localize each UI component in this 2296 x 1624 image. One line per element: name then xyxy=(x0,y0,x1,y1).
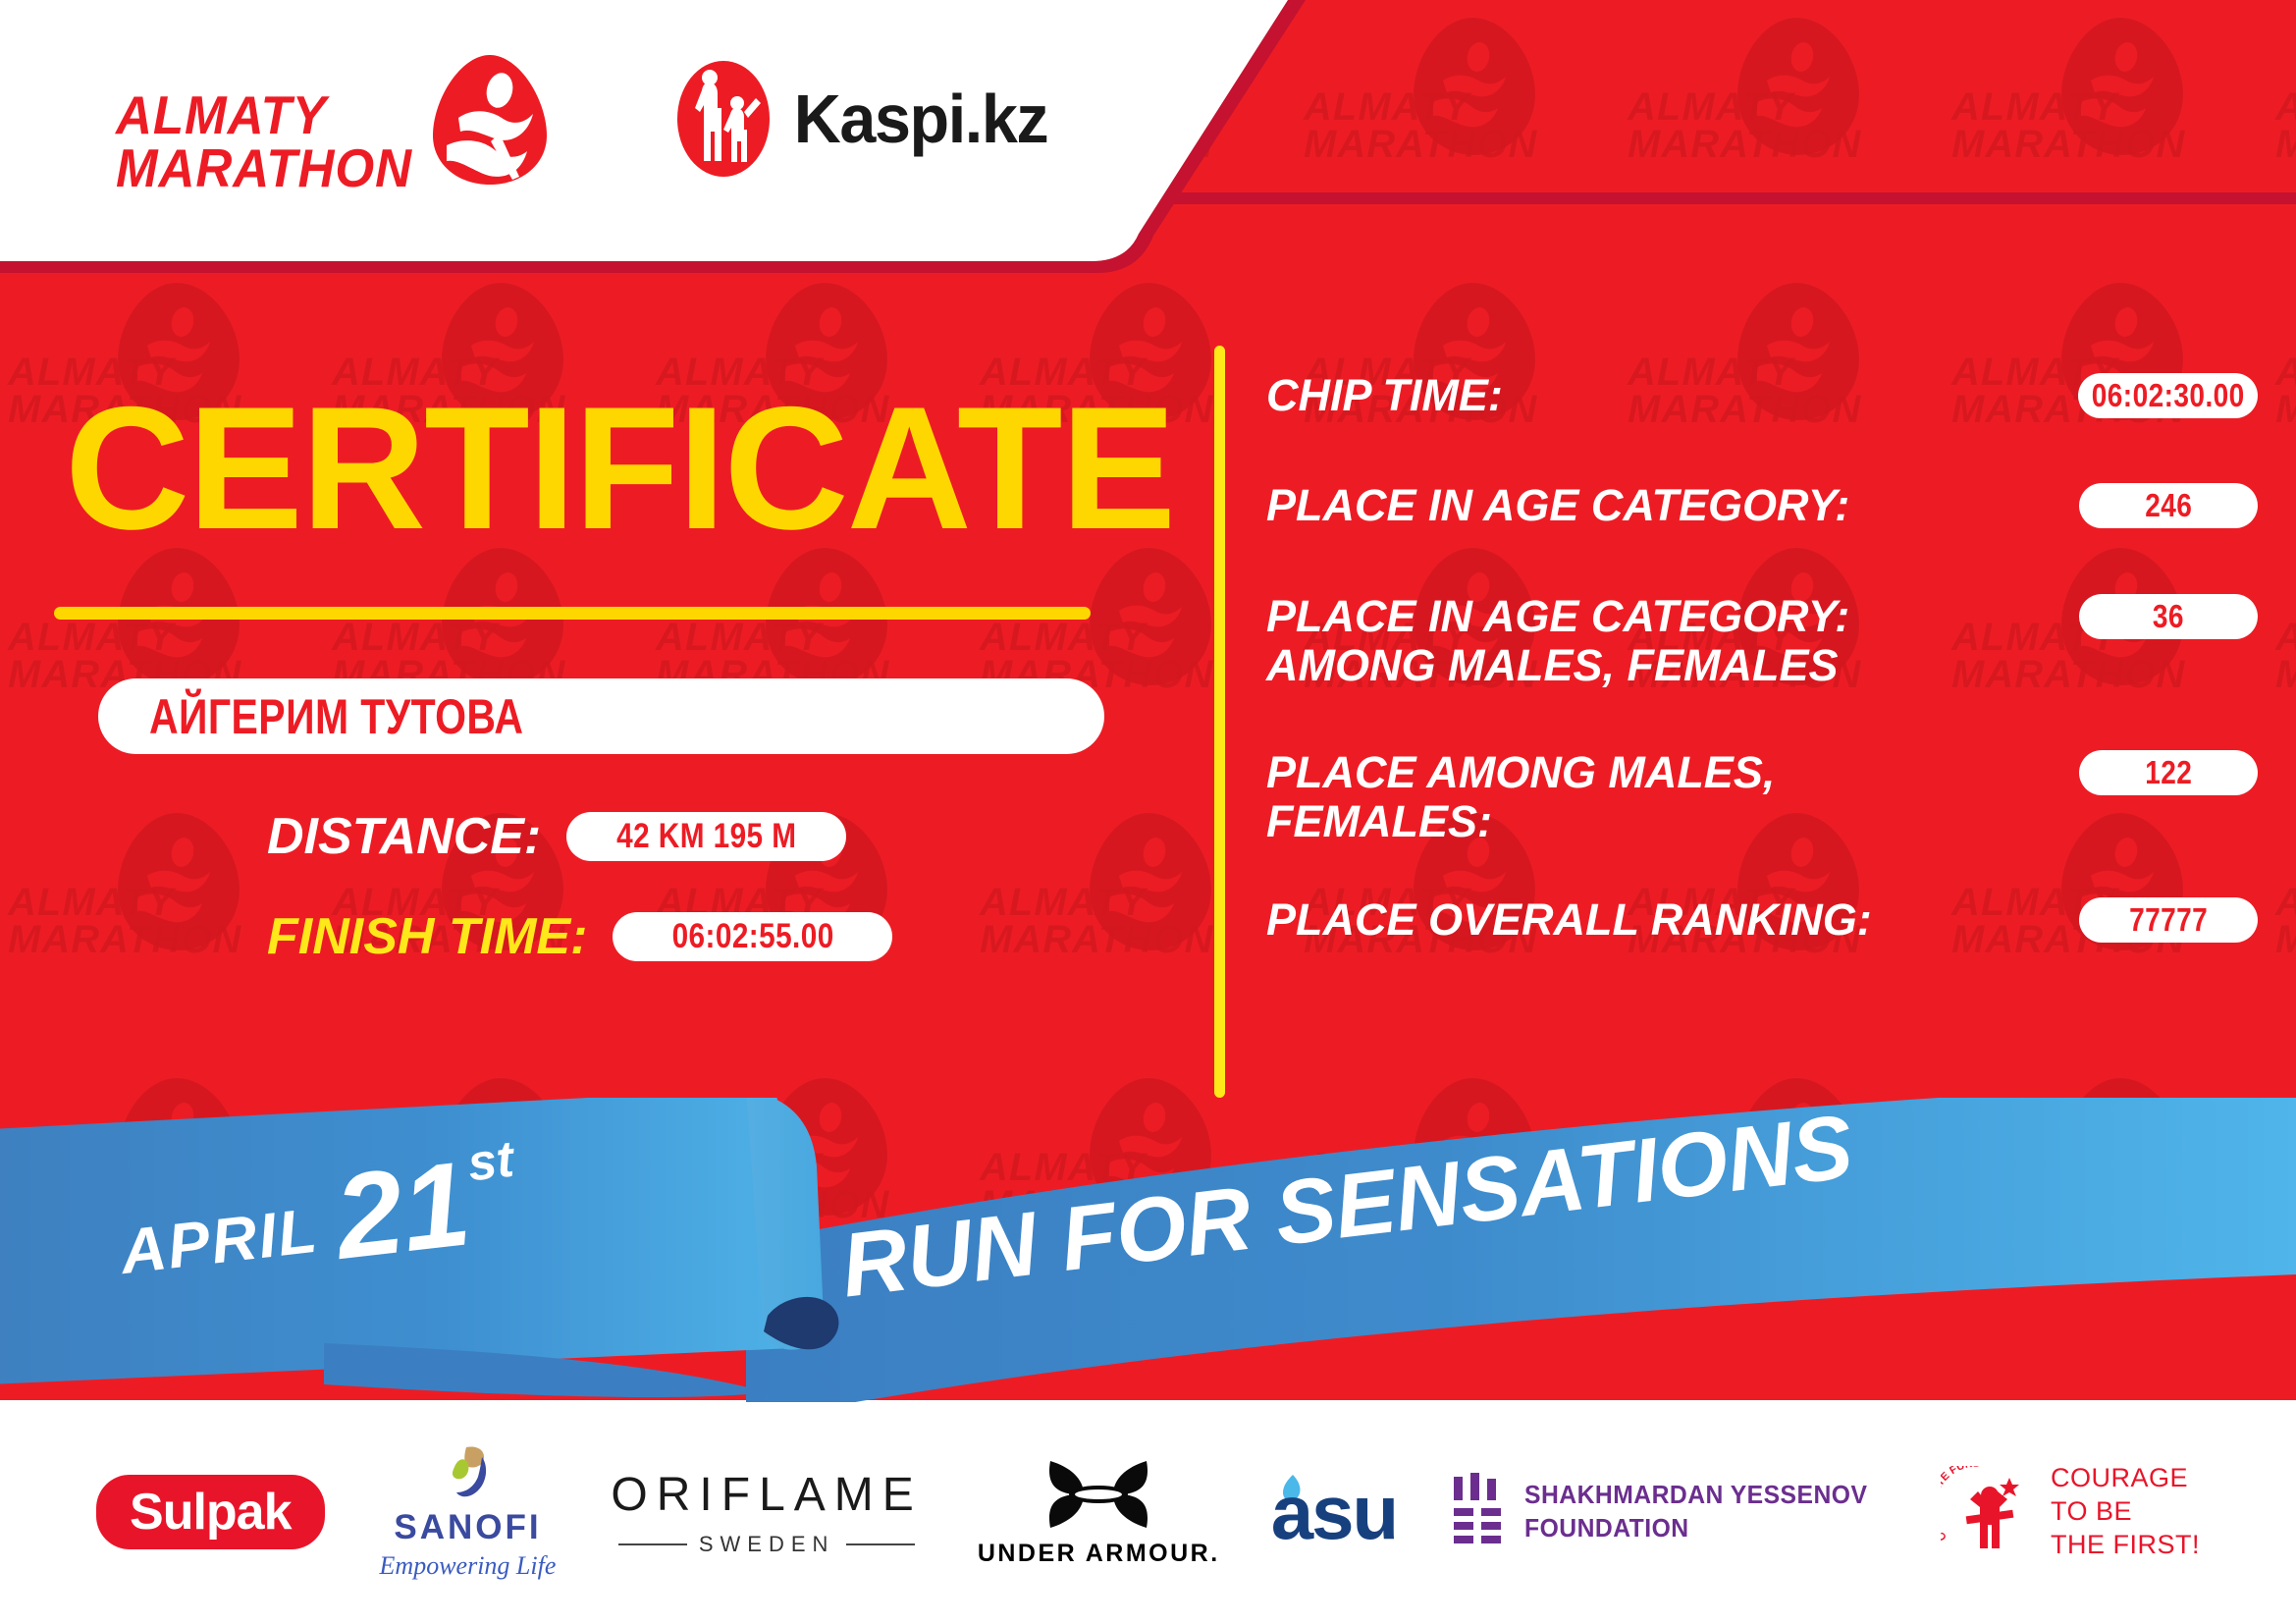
place-age-gender-label-line1: PLACE IN AGE CATEGORY: xyxy=(1266,592,2061,641)
courage-line3: THE FIRST! xyxy=(2051,1529,2200,1562)
under-armour-icon xyxy=(1041,1457,1156,1532)
event-day-ordinal: st xyxy=(465,1130,517,1194)
kaspi-logo: Kaspi.kz xyxy=(677,61,1054,177)
sponsor-under-armour: UNDER ARMOUR. xyxy=(978,1457,1220,1568)
chip-time-value: 06:02:30.00 xyxy=(2091,377,2244,414)
under-armour-wordmark: UNDER ARMOUR. xyxy=(978,1540,1220,1568)
column-divider xyxy=(1214,346,1225,1098)
sanofi-icon xyxy=(437,1443,498,1504)
wordmark-line1: ALMATY xyxy=(116,89,412,141)
place-age-pill: 246 xyxy=(2079,483,2258,528)
result-row-place-age-gender: PLACE IN AGE CATEGORY: AMONG MALES, FEMA… xyxy=(1266,592,2258,691)
runner-teardrop-icon xyxy=(429,51,552,189)
finish-time-pill: 06:02:55.00 xyxy=(613,912,892,961)
certificate-canvas: ALMATY MARATHON ALMATY MARATHON xyxy=(0,0,2296,1624)
sponsor-oriflame: ORIFLAME SWEDEN xyxy=(611,1468,922,1557)
sanofi-tagline: Empowering Life xyxy=(380,1551,557,1581)
event-month: APRIL xyxy=(117,1194,322,1288)
yessenov-line2: FOUNDATION xyxy=(1524,1512,1867,1545)
distance-pill: 42 KM 195 M xyxy=(566,812,846,861)
almaty-marathon-logo: ALMATY MARATHON xyxy=(116,51,552,196)
sanofi-wordmark: SANOFI xyxy=(394,1508,541,1547)
oriflame-sub-text: SWEDEN xyxy=(699,1532,835,1557)
wordmark-line2: MARATHON xyxy=(116,142,412,194)
overall-rank-pill: 77777 xyxy=(2079,897,2258,943)
courage-line2: TO BE xyxy=(2051,1495,2200,1529)
yessenov-icon xyxy=(1452,1473,1505,1551)
sponsor-yessenov: SHAKHMARDAN YESSENOV FOUNDATION xyxy=(1452,1473,1886,1551)
results-column: CHIP TIME: 06:02:30.00 PLACE IN AGE CATE… xyxy=(1266,371,2258,985)
event-day: 21 xyxy=(331,1153,475,1269)
result-row-overall: PLACE OVERALL RANKING: 77777 xyxy=(1266,895,2258,945)
place-age-label: PLACE IN AGE CATEGORY: xyxy=(1266,481,2079,530)
oriflame-wordmark: ORIFLAME xyxy=(611,1468,922,1522)
courage-wordmark: COURAGE TO BE THE FIRST! xyxy=(2051,1462,2200,1561)
place-gender-label: PLACE AMONG MALES, FEMALES: xyxy=(1266,748,2079,847)
oriflame-rule-left xyxy=(618,1543,687,1545)
place-gender-label-line2: FEMALES: xyxy=(1266,797,2061,846)
distance-value: 42 KM 195 M xyxy=(616,817,796,856)
overall-rank-label: PLACE OVERALL RANKING: xyxy=(1266,895,2079,945)
oriflame-sub: SWEDEN xyxy=(618,1532,916,1557)
place-age-gender-label-line2: AMONG MALES, FEMALES xyxy=(1266,641,2061,690)
finish-time-value: 06:02:55.00 xyxy=(671,917,833,956)
svg-text:CORPORATE FUND: CORPORATE FUND xyxy=(1941,1466,1981,1543)
courage-fund-icon: CORPORATE FUND xyxy=(1941,1466,2035,1558)
header-logos: ALMATY MARATHON Kaspi.kz xyxy=(0,0,1306,273)
kaspi-wordmark: Kaspi.kz xyxy=(794,80,1047,158)
overall-rank-value: 77777 xyxy=(2129,901,2208,939)
result-row-place-age: PLACE IN AGE CATEGORY: 246 xyxy=(1266,481,2258,530)
place-gender-label-line1: PLACE AMONG MALES, xyxy=(1266,748,2061,797)
sponsor-sanofi: SANOFI Empowering Life xyxy=(380,1443,557,1581)
place-age-gender-pill: 36 xyxy=(2079,594,2258,639)
sponsor-footer: Sulpak SANOFI Empowering Life ORIFLAME S… xyxy=(0,1400,2296,1624)
place-age-value: 246 xyxy=(2145,487,2192,524)
sulpak-wordmark: Sulpak xyxy=(130,1483,292,1542)
distance-row: DISTANCE: 42 KM 195 M xyxy=(267,807,1158,866)
result-row-place-gender: PLACE AMONG MALES, FEMALES: 122 xyxy=(1266,748,2258,847)
yessenov-wordmark: SHAKHMARDAN YESSENOV FOUNDATION xyxy=(1524,1479,1867,1545)
asu-wordmark: asu xyxy=(1271,1468,1397,1557)
place-gender-pill: 122 xyxy=(2079,750,2258,795)
yessenov-line1: SHAKHMARDAN YESSENOV xyxy=(1524,1479,1867,1512)
courage-line1: COURAGE xyxy=(2051,1462,2200,1495)
finish-time-row: FINISH TIME: 06:02:55.00 xyxy=(267,907,1158,966)
chip-time-pill: 06:02:30.00 xyxy=(2078,373,2258,418)
place-age-gender-label: PLACE IN AGE CATEGORY: AMONG MALES, FEMA… xyxy=(1266,592,2079,691)
sponsor-courage: CORPORATE FUND COURAGE TO BE THE FIRST! xyxy=(1941,1462,2200,1561)
result-row-chip-time: CHIP TIME: 06:02:30.00 xyxy=(1266,371,2258,420)
athlete-name-value: АЙГЕРИМ ТУТОВА xyxy=(149,688,523,745)
athlete-name-field: АЙГЕРИМ ТУТОВА xyxy=(98,678,1104,754)
sponsor-sulpak: Sulpak xyxy=(96,1475,325,1549)
oriflame-rule-right xyxy=(846,1543,915,1545)
kaspi-family-icon xyxy=(677,61,770,177)
almaty-marathon-wordmark: ALMATY MARATHON xyxy=(116,89,412,194)
sponsor-asu: asu xyxy=(1275,1468,1397,1557)
place-gender-value: 122 xyxy=(2145,754,2192,791)
place-age-gender-value: 36 xyxy=(2153,598,2184,635)
finish-time-label: FINISH TIME: xyxy=(267,907,587,966)
left-column: CERTIFICATE АЙГЕРИМ ТУТОВА DISTANCE: 42 … xyxy=(0,295,1158,966)
title-underline xyxy=(54,607,1091,620)
chip-time-label: CHIP TIME: xyxy=(1266,371,2078,420)
distance-label: DISTANCE: xyxy=(267,807,541,866)
page-title: CERTIFICATE xyxy=(65,381,1148,556)
